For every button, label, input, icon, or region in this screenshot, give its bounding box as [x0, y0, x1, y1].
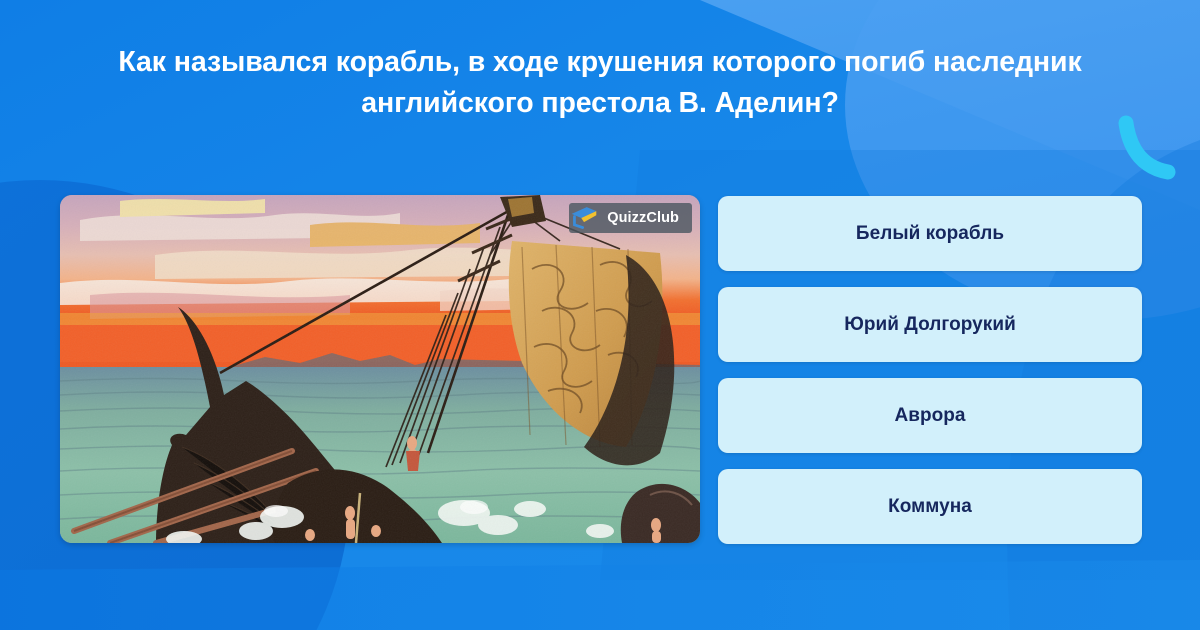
brand-watermark: QuizzClub [569, 203, 692, 233]
answer-options-list: Белый корабль Юрий Долгорукий Аврора Ком… [718, 196, 1142, 544]
answer-option-2[interactable]: Юрий Долгорукий [718, 287, 1142, 362]
answer-option-label: Юрий Долгорукий [826, 314, 1034, 336]
answer-option-label: Аврора [876, 405, 983, 427]
answer-option-3[interactable]: Аврора [718, 378, 1142, 453]
question-block: Как назывался корабль, в ходе крушения к… [0, 42, 1200, 124]
answer-option-1[interactable]: Белый корабль [718, 196, 1142, 271]
shipwreck-illustration-svg [60, 195, 700, 543]
bg-bottom-band [0, 560, 1200, 630]
question-illustration: QuizzClub [60, 195, 700, 543]
answer-option-label: Белый корабль [838, 223, 1022, 245]
graduation-cap-icon [569, 203, 599, 233]
answer-option-label: Коммуна [870, 496, 990, 518]
brand-name: QuizzClub [599, 210, 692, 226]
answer-option-4[interactable]: Коммуна [718, 469, 1142, 544]
question-text: Как назывался корабль, в ходе крушения к… [0, 42, 1200, 124]
